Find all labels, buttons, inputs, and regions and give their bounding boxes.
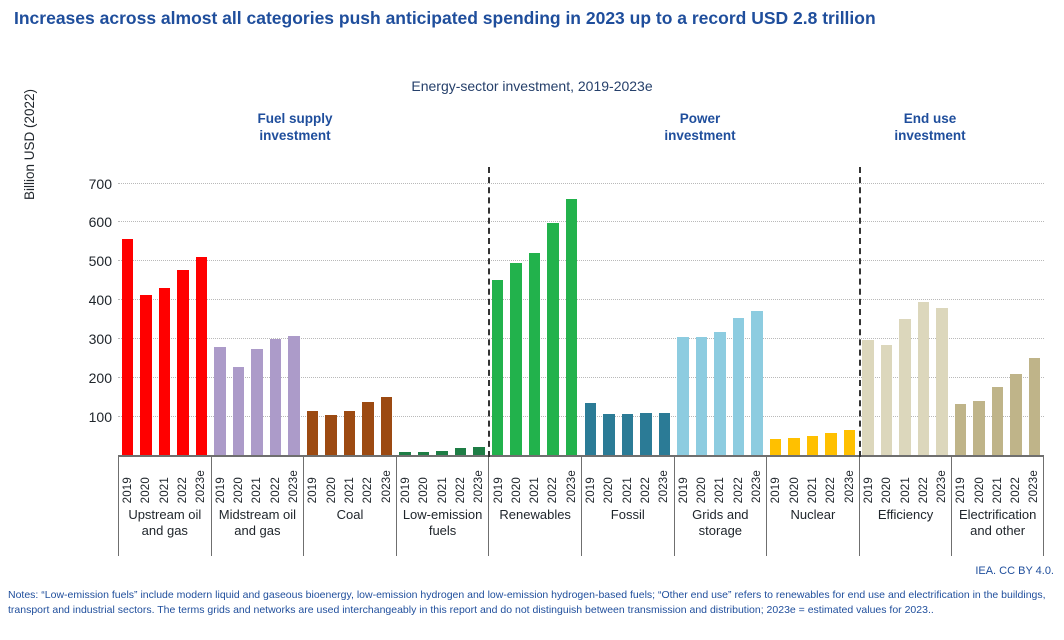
- x-axis-year-tick: 2019: [489, 457, 507, 503]
- x-axis-year-tick: 2023e: [470, 457, 488, 503]
- x-axis-year-label: 2019: [215, 477, 227, 503]
- x-axis-year-label: 2022: [362, 477, 374, 503]
- x-axis-year-label: 2020: [789, 477, 801, 503]
- x-axis-year-label: 2022: [177, 477, 189, 503]
- x-axis-year-tick: 2019: [119, 457, 137, 503]
- x-axis-year-tick: 2021: [804, 457, 822, 503]
- x-axis-year-label: 2020: [418, 477, 430, 503]
- bar: [510, 263, 521, 455]
- bar: [233, 367, 244, 455]
- section-header-power: Powerinvestment: [610, 110, 790, 144]
- y-axis-tick-label: 200: [89, 370, 112, 386]
- x-axis-year-tick: 2021: [341, 457, 359, 503]
- chart-title: Energy-sector investment, 2019-2023e: [0, 78, 1064, 94]
- bar: [214, 347, 225, 455]
- x-axis-category-label: Midstream oil and gas: [212, 503, 304, 556]
- x-axis-year-tick: 2021: [989, 457, 1007, 503]
- x-axis-year-tick: 2021: [156, 457, 174, 503]
- x-axis-year-tick: 2023e: [840, 457, 858, 503]
- bar: [622, 414, 633, 455]
- x-axis-year-label: 2019: [122, 477, 134, 503]
- x-axis-year-tick: 2019: [582, 457, 600, 503]
- plot-area: 100200300400500600700: [118, 167, 1044, 455]
- x-axis-year-label: 2020: [511, 477, 523, 503]
- x-axis-year-tick: 2021: [711, 457, 729, 503]
- x-axis-year-tick: 2019: [675, 457, 693, 503]
- x-axis-year-label: 2021: [900, 477, 912, 503]
- x-axis-year-tick: 2020: [415, 457, 433, 503]
- x-axis-year-label: 2023e: [566, 470, 578, 503]
- x-axis-category-label: Renewables: [489, 503, 581, 556]
- x-axis-year-label: 2020: [140, 477, 152, 503]
- section-header-line: Fuel supply: [205, 110, 385, 127]
- bar: [177, 270, 188, 455]
- x-axis-year-label: 2021: [251, 477, 263, 503]
- y-axis-tick-label: 700: [89, 176, 112, 192]
- x-axis-year-label: 2021: [437, 477, 449, 503]
- x-axis-category-label: Low-emission fuels: [397, 503, 489, 556]
- bar: [325, 415, 336, 455]
- y-axis-tick-label: 500: [89, 253, 112, 269]
- x-axis-category: 20192020202120222023eLow-emission fuels: [396, 457, 489, 556]
- x-axis-year-label: 2023e: [751, 470, 763, 503]
- x-axis-labels: 20192020202120222023eUpstream oil and ga…: [118, 457, 1044, 556]
- x-axis-year-tick: 2020: [970, 457, 988, 503]
- x-axis-year-tick: 2023e: [655, 457, 673, 503]
- bar: [696, 337, 707, 455]
- x-axis-year-tick: 2022: [452, 457, 470, 503]
- x-axis-year-label: 2022: [825, 477, 837, 503]
- x-axis-year-tick: 2022: [544, 457, 562, 503]
- bar: [825, 433, 836, 455]
- x-axis-year-label: 2023e: [658, 470, 670, 503]
- x-axis-category: 20192020202120222023eEfficiency: [859, 457, 952, 556]
- bar: [936, 308, 947, 455]
- x-axis-year-label: 2022: [733, 477, 745, 503]
- bar: [751, 311, 762, 455]
- bar: [547, 223, 558, 455]
- gridline: 700: [118, 183, 1044, 184]
- bar: [992, 387, 1003, 455]
- x-axis-year-label: 2019: [955, 477, 967, 503]
- x-axis-year-tick: 2023e: [1025, 457, 1043, 503]
- x-axis-year-tick: 2021: [619, 457, 637, 503]
- bar: [251, 349, 262, 455]
- bar: [770, 439, 781, 455]
- bar: [492, 280, 503, 455]
- x-axis-year-label: 2021: [714, 477, 726, 503]
- bar: [140, 295, 151, 455]
- x-axis-year-tick: 2021: [433, 457, 451, 503]
- gridline: 400: [118, 299, 1044, 300]
- x-axis-category-label: Efficiency: [860, 503, 952, 556]
- y-axis-tick-label: 300: [89, 331, 112, 347]
- x-axis-year-tick: 2021: [526, 457, 544, 503]
- section-header-line: End use: [840, 110, 1020, 127]
- x-axis-year-tick: 2020: [137, 457, 155, 503]
- bar: [566, 199, 577, 455]
- bar: [270, 339, 281, 455]
- x-axis-category-label: Coal: [304, 503, 396, 556]
- bar: [307, 411, 318, 455]
- x-axis-year-label: 2023e: [473, 470, 485, 503]
- x-axis-year-tick: 2022: [267, 457, 285, 503]
- x-axis-year-label: 2020: [233, 477, 245, 503]
- x-axis-year-label: 2020: [326, 477, 338, 503]
- x-axis-year-tick: 2019: [952, 457, 970, 503]
- section-header-line: investment: [205, 127, 385, 144]
- x-axis-year-tick: 2023e: [377, 457, 395, 503]
- x-axis-year-label: 2023e: [195, 470, 207, 503]
- bar: [1029, 358, 1040, 455]
- bar: [640, 413, 651, 455]
- bar: [677, 337, 688, 455]
- x-axis-year-label: 2021: [992, 477, 1004, 503]
- x-axis-year-label: 2019: [678, 477, 690, 503]
- x-axis-year-label: 2022: [1010, 477, 1022, 503]
- section-header-end-use: End useinvestment: [840, 110, 1020, 144]
- bar: [196, 257, 207, 455]
- bar: [1010, 374, 1021, 455]
- x-axis-year-tick: 2022: [822, 457, 840, 503]
- section-divider: [488, 167, 490, 457]
- y-axis-tick-label: 600: [89, 214, 112, 230]
- x-axis-year-label: 2021: [622, 477, 634, 503]
- bar: [881, 345, 892, 455]
- x-axis-year-tick: 2019: [767, 457, 785, 503]
- x-axis-year-label: 2019: [493, 477, 505, 503]
- x-axis-year-label: 2021: [344, 477, 356, 503]
- x-axis-year-tick: 2023e: [563, 457, 581, 503]
- x-axis-year-tick: 2020: [600, 457, 618, 503]
- x-axis-year-tick: 2022: [1007, 457, 1025, 503]
- x-axis-year-tick: 2022: [915, 457, 933, 503]
- bar: [288, 336, 299, 455]
- x-axis-year-label: 2023e: [1028, 470, 1040, 503]
- x-axis-year-label: 2021: [529, 477, 541, 503]
- section-header-line: Power: [610, 110, 790, 127]
- bar: [955, 404, 966, 455]
- bar: [659, 413, 670, 455]
- gridline: 500: [118, 260, 1044, 261]
- x-axis-category: 20192020202120222023eUpstream oil and ga…: [118, 457, 211, 556]
- bar: [714, 332, 725, 455]
- bar: [603, 414, 614, 455]
- x-axis-year-tick: 2020: [230, 457, 248, 503]
- x-axis-year-label: 2019: [307, 477, 319, 503]
- y-axis-title: Billion USD (2022): [22, 89, 37, 200]
- x-axis-year-label: 2022: [547, 477, 559, 503]
- x-axis-category-label: Nuclear: [767, 503, 859, 556]
- x-axis-year-label: 2021: [807, 477, 819, 503]
- x-axis-year-label: 2023e: [936, 470, 948, 503]
- bar: [473, 447, 484, 455]
- x-axis-year-label: 2022: [455, 477, 467, 503]
- x-axis-year-tick: 2020: [323, 457, 341, 503]
- x-axis-year-tick: 2021: [896, 457, 914, 503]
- bar: [788, 438, 799, 456]
- bar: [733, 318, 744, 455]
- bar: [159, 288, 170, 455]
- bar: [918, 302, 929, 455]
- x-axis-category: 20192020202120222023eElectrification and…: [951, 457, 1044, 556]
- notes-text: Notes: “Low-emission fuels” include mode…: [8, 588, 1053, 618]
- x-axis-year-tick: 2019: [860, 457, 878, 503]
- x-axis-year-label: 2020: [603, 477, 615, 503]
- x-axis-year-label: 2019: [770, 477, 782, 503]
- bar: [585, 403, 596, 455]
- x-axis-year-tick: 2022: [730, 457, 748, 503]
- x-axis-year-tick: 2019: [212, 457, 230, 503]
- x-axis-year-label: 2019: [400, 477, 412, 503]
- page-title: Increases across almost all categories p…: [14, 6, 954, 31]
- x-axis-year-label: 2021: [159, 477, 171, 503]
- section-header-line: investment: [840, 127, 1020, 144]
- bar: [381, 397, 392, 455]
- x-axis-year-tick: 2019: [304, 457, 322, 503]
- x-axis-year-tick: 2020: [508, 457, 526, 503]
- section-divider: [859, 167, 861, 457]
- bar: [807, 436, 818, 455]
- section-header-line: investment: [610, 127, 790, 144]
- x-axis-year-label: 2023e: [288, 470, 300, 503]
- x-axis-year-label: 2022: [918, 477, 930, 503]
- section-header-fuel-supply: Fuel supplyinvestment: [205, 110, 385, 144]
- y-axis-tick-label: 400: [89, 292, 112, 308]
- x-axis-category-label: Electrification and other: [952, 503, 1043, 556]
- x-axis-year-tick: 2019: [397, 457, 415, 503]
- bar: [362, 402, 373, 455]
- bar: [344, 411, 355, 455]
- x-axis-year-tick: 2023e: [933, 457, 951, 503]
- x-axis-category-label: Fossil: [582, 503, 674, 556]
- x-axis-year-tick: 2023e: [192, 457, 210, 503]
- x-axis-year-label: 2020: [881, 477, 893, 503]
- x-axis-year-tick: 2023e: [285, 457, 303, 503]
- x-axis-category-label: Grids and storage: [675, 503, 767, 556]
- y-axis-tick-label: 100: [89, 409, 112, 425]
- x-axis-year-label: 2023e: [381, 470, 393, 503]
- bar: [455, 448, 466, 455]
- x-axis-category: 20192020202120222023eRenewables: [488, 457, 581, 556]
- x-axis-year-tick: 2022: [359, 457, 377, 503]
- x-axis-category: 20192020202120222023eFossil: [581, 457, 674, 556]
- x-axis-year-label: 2020: [974, 477, 986, 503]
- gridline: 600: [118, 221, 1044, 222]
- bar: [529, 253, 540, 455]
- x-axis-category: 20192020202120222023eCoal: [303, 457, 396, 556]
- x-axis-category: 20192020202120222023eMidstream oil and g…: [211, 457, 304, 556]
- bar: [899, 319, 910, 455]
- x-axis-year-tick: 2021: [248, 457, 266, 503]
- x-axis-year-label: 2019: [863, 477, 875, 503]
- bar: [862, 340, 873, 455]
- x-axis-year-tick: 2022: [637, 457, 655, 503]
- bar: [973, 401, 984, 455]
- x-axis-year-label: 2022: [640, 477, 652, 503]
- x-axis-category-label: Upstream oil and gas: [119, 503, 211, 556]
- x-axis-year-tick: 2020: [693, 457, 711, 503]
- x-axis-year-label: 2023e: [844, 470, 856, 503]
- x-axis-year-tick: 2020: [785, 457, 803, 503]
- bar: [122, 239, 133, 455]
- x-axis-year-label: 2022: [270, 477, 282, 503]
- x-axis-year-label: 2020: [696, 477, 708, 503]
- bar: [844, 430, 855, 455]
- x-axis-year-tick: 2022: [174, 457, 192, 503]
- x-axis-category: 20192020202120222023eNuclear: [766, 457, 859, 556]
- x-axis-year-label: 2019: [585, 477, 597, 503]
- x-axis-year-tick: 2020: [878, 457, 896, 503]
- x-axis-year-tick: 2023e: [748, 457, 766, 503]
- x-axis-category: 20192020202120222023eGrids and storage: [674, 457, 767, 556]
- credit-label: IEA. CC BY 4.0.: [975, 565, 1054, 577]
